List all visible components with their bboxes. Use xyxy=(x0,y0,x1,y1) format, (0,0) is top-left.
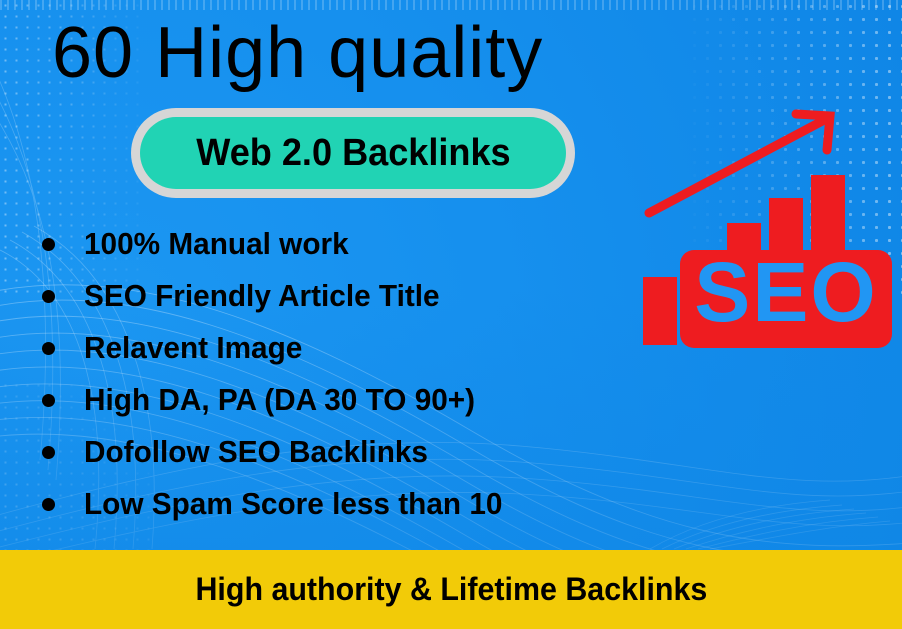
bullet-dot-icon xyxy=(42,498,55,511)
seo-badge-label: SEO xyxy=(694,245,877,339)
banner-label: High authority & Lifetime Backlinks xyxy=(195,571,707,608)
web20-backlinks-pill: Web 2.0 Backlinks xyxy=(131,108,575,198)
list-item: Low Spam Score less than 10 xyxy=(36,478,656,530)
chart-bar xyxy=(643,277,677,345)
bullet-dot-icon xyxy=(42,446,55,459)
list-item: Relavent Image xyxy=(36,322,656,374)
bullet-dot-icon xyxy=(42,394,55,407)
list-item-label: Relavent Image xyxy=(84,330,302,366)
bottom-banner: High authority & Lifetime Backlinks xyxy=(0,550,902,629)
list-item-label: Low Spam Score less than 10 xyxy=(84,486,502,522)
pill-label: Web 2.0 Backlinks xyxy=(196,132,510,175)
list-item-label: Dofollow SEO Backlinks xyxy=(84,434,428,470)
feature-list: 100% Manual work SEO Friendly Article Ti… xyxy=(36,218,656,530)
bullet-dot-icon xyxy=(42,290,55,303)
list-item-label: High DA, PA (DA 30 TO 90+) xyxy=(84,382,475,418)
bullet-dot-icon xyxy=(42,238,55,251)
list-item: High DA, PA (DA 30 TO 90+) xyxy=(36,374,656,426)
top-edge-stripe xyxy=(0,0,902,10)
list-item: 100% Manual work xyxy=(36,218,656,270)
seo-growth-chart-graphic: SEO xyxy=(630,100,902,390)
list-item: Dofollow SEO Backlinks xyxy=(36,426,656,478)
list-item-label: 100% Manual work xyxy=(84,226,349,262)
list-item-label: SEO Friendly Article Title xyxy=(84,278,440,314)
pill-inner-fill: Web 2.0 Backlinks xyxy=(140,117,566,189)
bullet-dot-icon xyxy=(42,342,55,355)
list-item: SEO Friendly Article Title xyxy=(36,270,656,322)
promo-graphic-canvas: 60 High quality Web 2.0 Backlinks 100% M… xyxy=(0,0,902,629)
page-title: 60 High quality xyxy=(52,14,543,92)
